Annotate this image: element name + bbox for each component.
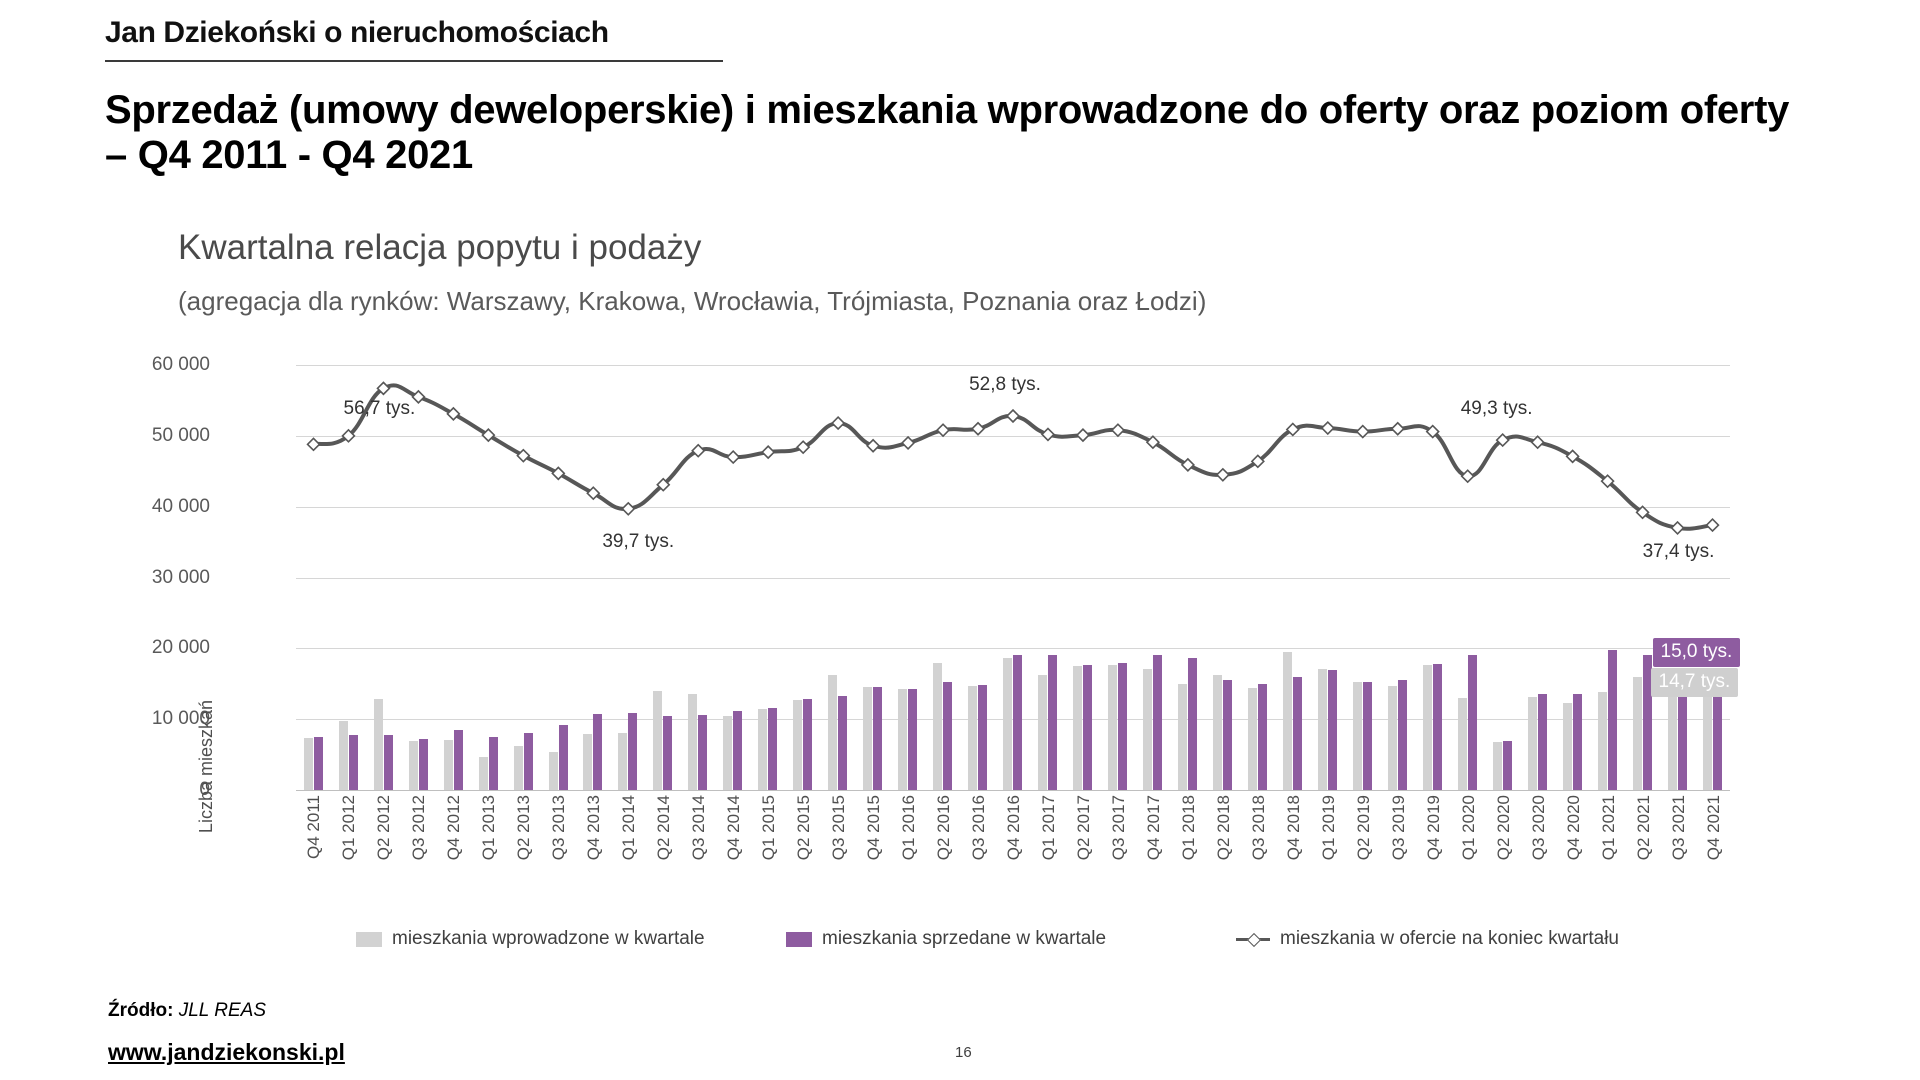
x-axis-tick: Q3 2018	[1249, 795, 1269, 860]
x-axis-tick: Q4 2014	[724, 795, 744, 860]
brand-title: Jan Dziekoński o nieruchomościach	[105, 16, 609, 50]
line-marker-diamond	[1322, 422, 1334, 434]
y-axis-tick: 40 000	[90, 496, 210, 518]
x-axis-tick: Q1 2017	[1039, 795, 1059, 860]
line-marker-diamond	[762, 446, 774, 458]
line-series-layer	[296, 365, 1730, 790]
legend-label: mieszkania sprzedane w kwartale	[822, 928, 1106, 950]
source-line: Źródło: JLL REAS	[108, 1000, 266, 1022]
line-marker-diamond	[1112, 424, 1124, 436]
chart-plot: 010 00020 00030 00040 00050 00060 000 56…	[210, 365, 1730, 790]
legend-label: mieszkania w ofercie na koniec kwartału	[1280, 928, 1619, 950]
x-axis-tick: Q2 2016	[934, 795, 954, 860]
x-axis-tick: Q4 2012	[444, 795, 464, 860]
line-value-annotation: 49,3 tys.	[1461, 398, 1533, 420]
x-axis-tick: Q2 2019	[1354, 795, 1374, 860]
x-axis-tick: Q3 2012	[409, 795, 429, 860]
line-marker-diamond	[902, 437, 914, 449]
legend-swatch-icon	[786, 932, 812, 947]
x-axis-tick: Q4 2015	[864, 795, 884, 860]
line-value-annotation: 37,4 tys.	[1643, 541, 1715, 563]
legend-item[interactable]: mieszkania sprzedane w kwartale	[786, 928, 1106, 950]
x-axis-tick: Q4 2016	[1004, 795, 1024, 860]
line-marker-diamond	[937, 424, 949, 436]
line-marker-diamond	[1042, 428, 1054, 440]
y-axis-tick: 60 000	[90, 354, 210, 376]
y-axis-title: Liczba mieszkań	[196, 700, 217, 833]
brand-underline	[105, 60, 723, 62]
x-axis-tick: Q3 2020	[1529, 795, 1549, 860]
line-marker-diamond	[972, 423, 984, 435]
line-marker-diamond	[1462, 470, 1474, 482]
legend-swatch-icon	[356, 932, 382, 947]
x-axis-tick: Q2 2012	[374, 795, 394, 860]
x-axis-tick: Q4 2011	[304, 795, 324, 859]
x-axis-tick: Q4 2018	[1284, 795, 1304, 860]
x-axis-tick: Q4 2017	[1144, 795, 1164, 860]
x-axis-tick: Q3 2016	[969, 795, 989, 860]
line-marker-diamond	[622, 503, 634, 515]
legend-item[interactable]: mieszkania wprowadzone w kwartale	[356, 928, 705, 950]
y-axis-tick: 50 000	[90, 425, 210, 447]
line-marker-diamond	[308, 438, 320, 450]
y-axis-tick: 30 000	[90, 567, 210, 589]
badge-introduced-value: 14,7 tys.	[1651, 668, 1739, 697]
x-axis-tick: Q2 2014	[654, 795, 674, 860]
x-axis-baseline	[296, 790, 1730, 791]
x-axis-tick: Q4 2020	[1564, 795, 1584, 860]
x-axis-tick: Q4 2013	[584, 795, 604, 860]
x-axis-tick: Q3 2021	[1669, 795, 1689, 860]
line-marker-diamond	[1532, 436, 1544, 448]
legend-line-marker-icon	[1236, 933, 1270, 945]
line-marker-diamond	[867, 440, 879, 452]
line-value-annotation: 39,7 tys.	[602, 531, 674, 553]
line-value-annotation: 52,8 tys.	[969, 374, 1041, 396]
x-axis-tick: Q3 2013	[549, 795, 569, 860]
line-marker-diamond	[1217, 469, 1229, 481]
chart-plot-area: 56,7 tys.39,7 tys.52,8 tys.49,3 tys.37,4…	[296, 365, 1730, 790]
line-marker-diamond	[1007, 410, 1019, 422]
x-axis-tick: Q2 2015	[794, 795, 814, 860]
chart-title: Kwartalna relacja popytu i podaży	[178, 228, 701, 268]
x-axis-tick: Q1 2020	[1459, 795, 1479, 860]
x-axis-tick: Q1 2016	[899, 795, 919, 860]
line-marker-diamond	[1672, 522, 1684, 534]
x-axis-tick: Q2 2013	[514, 795, 534, 860]
y-axis-tick: 0	[90, 779, 210, 801]
x-axis-tick: Q1 2013	[479, 795, 499, 860]
website-link[interactable]: www.jandziekonski.pl	[108, 1039, 345, 1066]
page-title: Sprzedaż (umowy deweloperskie) i mieszka…	[105, 88, 1795, 178]
x-axis-tick: Q3 2015	[829, 795, 849, 860]
y-axis-tick: 10 000	[90, 708, 210, 730]
source-label: Źródło:	[108, 1000, 173, 1021]
line-marker-diamond	[1707, 519, 1719, 531]
x-axis-tick: Q2 2018	[1214, 795, 1234, 860]
line-marker-diamond	[1077, 429, 1089, 441]
line-marker-diamond	[832, 417, 844, 429]
legend-item[interactable]: mieszkania w ofercie na koniec kwartału	[1236, 928, 1619, 950]
line-marker-diamond	[727, 451, 739, 463]
x-axis-tick-labels: Q4 2011Q1 2012Q2 2012Q3 2012Q4 2012Q1 20…	[296, 795, 1730, 910]
line-value-annotation: 56,7 tys.	[344, 398, 416, 420]
x-axis-tick: Q2 2021	[1634, 795, 1654, 860]
x-axis-tick: Q2 2017	[1074, 795, 1094, 860]
source-value: JLL REAS	[179, 1000, 266, 1021]
y-axis-tick: 20 000	[90, 637, 210, 659]
x-axis-tick: Q2 2020	[1494, 795, 1514, 860]
page-number: 16	[955, 1044, 972, 1061]
badge-sold-value: 15,0 tys.	[1653, 638, 1741, 667]
x-axis-tick: Q3 2017	[1109, 795, 1129, 860]
x-axis-tick: Q1 2018	[1179, 795, 1199, 860]
line-marker-diamond	[1357, 426, 1369, 438]
x-axis-tick: Q1 2015	[759, 795, 779, 860]
x-axis-tick: Q1 2021	[1599, 795, 1619, 860]
chart-subtitle: (agregacja dla rynków: Warszawy, Krakowa…	[178, 286, 1206, 317]
x-axis-tick: Q3 2019	[1389, 795, 1409, 860]
x-axis-tick: Q1 2012	[339, 795, 359, 860]
x-axis-tick: Q4 2021	[1704, 795, 1724, 860]
x-axis-tick: Q4 2019	[1424, 795, 1444, 860]
legend-label: mieszkania wprowadzone w kwartale	[392, 928, 705, 950]
line-marker-diamond	[1392, 423, 1404, 435]
x-axis-tick: Q3 2014	[689, 795, 709, 860]
x-axis-tick: Q1 2014	[619, 795, 639, 860]
x-axis-tick: Q1 2019	[1319, 795, 1339, 860]
